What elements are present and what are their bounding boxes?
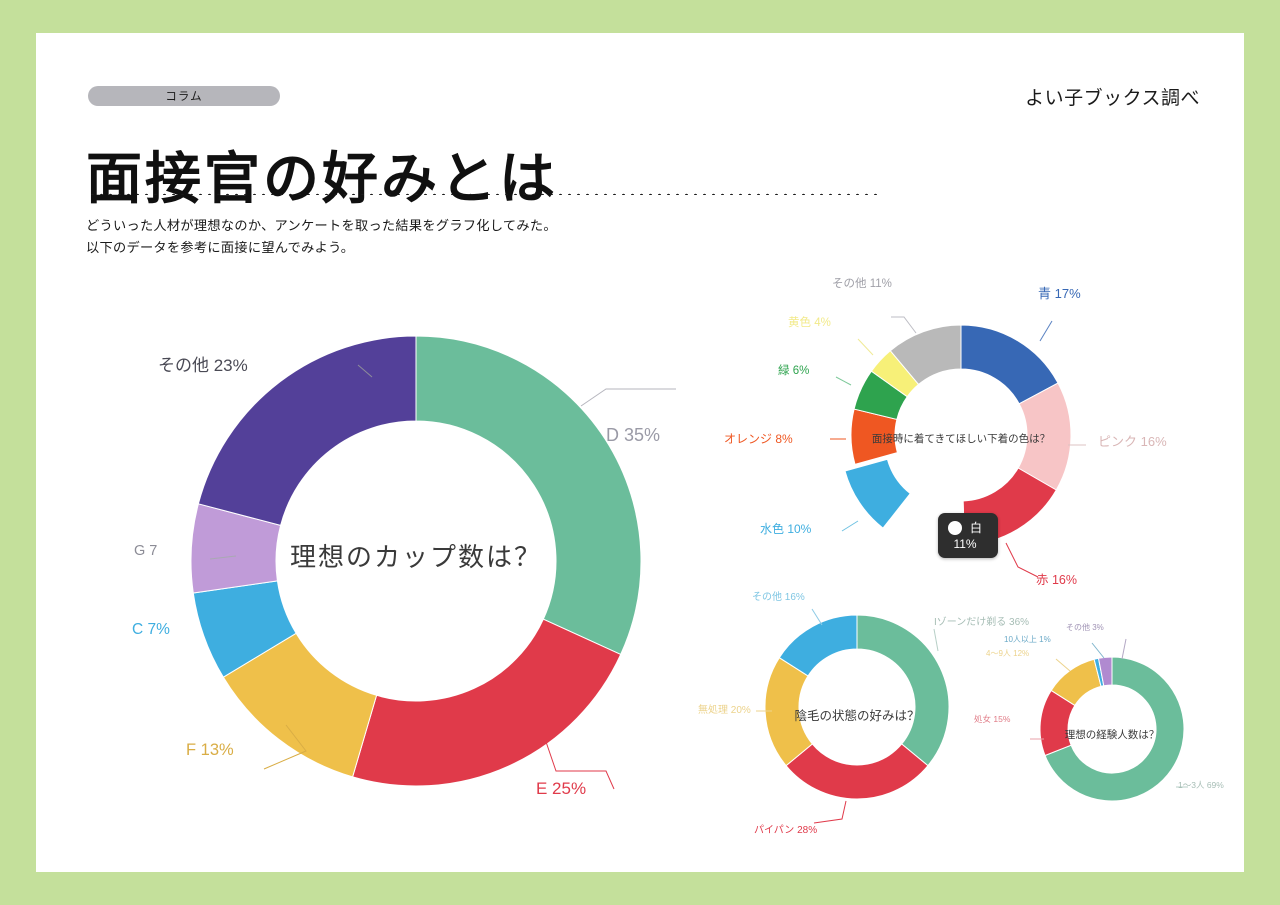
tooltip-label: 白: [970, 519, 982, 536]
donut-slice-D[interactable]: [416, 336, 641, 654]
leader-line: [581, 389, 676, 406]
label-cup-e: E 25%: [536, 779, 586, 799]
page-title: 面接官の好みとは: [86, 149, 558, 212]
column-tag-label: コラム: [165, 88, 202, 104]
column-tag-badge: コラム: [88, 86, 280, 106]
label-cup-g: G 7: [134, 543, 157, 560]
tooltip-value: 11%: [948, 537, 982, 551]
dotted-divider: [88, 191, 878, 195]
leader-line: [812, 609, 822, 625]
leader-line: [842, 521, 858, 531]
label-partners-one-three: 1〜3人 69%: [1178, 781, 1224, 791]
leader-line: [858, 339, 873, 355]
label-cup-d: D 35%: [606, 425, 660, 446]
label-cup-c: C 7%: [132, 621, 170, 639]
leader-line: [1056, 659, 1070, 671]
donut-ideal-partners: [1022, 645, 1202, 825]
label-partners-virgin: 処女 15%: [974, 715, 1010, 725]
leader-line: [891, 317, 916, 333]
label-color-lightblue: 水色 10%: [760, 523, 811, 537]
label-hair-izone: Iゾーンだけ剃る 36%: [934, 617, 1029, 629]
leader-line: [1122, 639, 1126, 659]
label-color-yellow: 黄色 4%: [788, 317, 831, 330]
tooltip-color-dot: [948, 521, 962, 535]
leader-line: [1092, 643, 1104, 658]
intro-line-2: 以下のデータを参考に面接に望んでみよう。: [86, 237, 557, 259]
tooltip-white-slice: 白 11%: [938, 513, 998, 558]
leader-line: [1040, 321, 1052, 341]
label-partners-four-nine: 4〜9人 12%: [986, 649, 1029, 658]
label-hair-shaved: パイパン 28%: [754, 825, 817, 837]
label-partners-other: その他 3%: [1066, 623, 1104, 632]
label-color-red: 赤 16%: [1036, 573, 1077, 587]
label-color-orange: オレンジ 8%: [724, 433, 793, 447]
donut-pubic-hair: [742, 599, 972, 829]
chart-underwear-color: 面接時に着てきてほしい下着の色は？ その他 11% 黄色 4% 緑 6% オレン…: [796, 285, 1126, 595]
intro-line-1: どういった人材が理想なのか、アンケートを取った結果をグラフ化してみた。: [86, 215, 557, 237]
label-color-pink: ピンク 16%: [1098, 435, 1167, 450]
source-credit: よい子ブックス調べ: [1025, 83, 1200, 110]
label-hair-other: その他 16%: [752, 592, 805, 604]
page-card: コラム よい子ブックス調べ 面接官の好みとは どういった人材が理想なのか、アンケ…: [36, 33, 1244, 872]
donut-slice-E[interactable]: [353, 619, 621, 786]
label-hair-natural: 無処理 20%: [698, 705, 751, 717]
label-cup-other: その他 23%: [158, 356, 248, 376]
chart-ideal-partners: 理想の経験人数は？ その他 3% 10人以上 1% 4〜9人 12% 処女 15…: [1022, 645, 1202, 825]
leader-line: [934, 629, 938, 651]
chart-pubic-hair: 陰毛の状態の好みは？ その他 16% 無処理 20% パイパン 28% Iゾーン…: [742, 599, 972, 829]
leader-line: [814, 801, 846, 823]
label-color-green: 緑 6%: [778, 365, 809, 378]
label-color-other: その他 11%: [832, 278, 892, 291]
chart-cup-size: 理想のカップ数は？ その他 23% G 7 C 7% F 13% E 25% D…: [136, 301, 696, 821]
label-partners-ten-plus: 10人以上 1%: [1004, 635, 1051, 644]
intro-text: どういった人材が理想なのか、アンケートを取った結果をグラフ化してみた。 以下のデ…: [86, 215, 557, 259]
donut-slice-パイパン[interactable]: [786, 744, 928, 799]
label-color-blue: 青 17%: [1038, 287, 1081, 302]
label-cup-f: F 13%: [186, 741, 234, 760]
leader-line: [836, 377, 851, 385]
leader-line: [1006, 543, 1038, 577]
